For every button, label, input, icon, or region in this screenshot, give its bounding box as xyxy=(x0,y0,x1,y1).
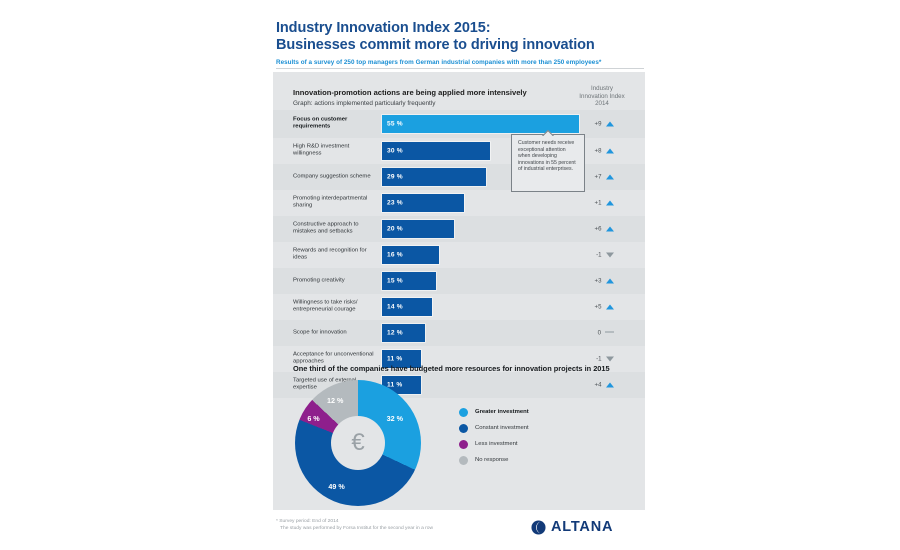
arrow-up-icon xyxy=(606,148,614,153)
donut-slice-label: 32 % xyxy=(387,414,403,423)
bar-row: Willingness to take risks/ entrepreneuri… xyxy=(273,294,645,320)
donut-slice-label: 12 % xyxy=(327,396,343,405)
footnote-line1: * Survey period: End of 2014 xyxy=(276,519,433,526)
footnote-line2: The study was performed by Forsa Institu… xyxy=(276,526,433,533)
bar-track: 55 % xyxy=(382,115,597,133)
index-delta: -1 xyxy=(571,252,633,259)
donut-center-symbol: € xyxy=(331,416,385,470)
bar-row: Focus on customer requirements55 %+9 xyxy=(273,110,645,138)
bar: 16 % xyxy=(382,246,439,264)
bar-chart-subtitle: Graph: actions implemented particularly … xyxy=(293,99,573,108)
bar-value-label: 23 % xyxy=(387,200,403,207)
index-delta-value: 0 xyxy=(590,330,601,337)
legend-color-swatch xyxy=(459,456,468,465)
index-delta-value: +1 xyxy=(591,200,602,207)
bar: 23 % xyxy=(382,194,464,212)
arrow-up-icon xyxy=(606,304,614,309)
bar-value-label: 15 % xyxy=(387,278,403,285)
index-delta-value: -1 xyxy=(591,252,602,259)
bar-value-label: 29 % xyxy=(387,174,403,181)
index-column-header: Industry Innovation Index 2014 xyxy=(571,85,633,108)
legend-item: No response xyxy=(459,452,529,468)
arrow-up-icon xyxy=(606,382,614,387)
bar-row: Promoting interdepartmental sharing23 %+… xyxy=(273,190,645,216)
legend-label: Greater investment xyxy=(475,409,529,415)
legend-item: Less investment xyxy=(459,436,529,452)
bar-chart-header: Innovation-promotion actions are being a… xyxy=(293,88,573,108)
altana-logo: ALTANA xyxy=(531,519,613,535)
header-divider xyxy=(276,68,644,69)
bar-value-label: 30 % xyxy=(387,148,403,155)
content-panel: Innovation-promotion actions are being a… xyxy=(273,72,645,510)
legend-color-swatch xyxy=(459,440,468,449)
index-header-line3: 2014 xyxy=(571,100,633,108)
callout-text: Customer needs receive exceptional atten… xyxy=(512,135,584,173)
altana-logo-text: ALTANA xyxy=(551,519,613,535)
footnote: * Survey period: End of 2014 The study w… xyxy=(276,519,433,532)
index-delta: -1 xyxy=(571,356,633,363)
legend-label: Less investment xyxy=(475,441,518,447)
bar: 15 % xyxy=(382,272,436,290)
arrow-down-icon xyxy=(606,356,614,361)
legend-item: Constant investment xyxy=(459,420,529,436)
bar-value-label: 16 % xyxy=(387,252,403,259)
bar-row: Rewards and recognition for ideas16 %-1 xyxy=(273,242,645,268)
arrow-up-icon xyxy=(606,121,614,126)
index-delta-value: +3 xyxy=(591,278,602,285)
index-delta: +9 xyxy=(571,121,633,128)
bar-row-label: Willingness to take risks/ entrepreneuri… xyxy=(293,300,377,315)
bar-track: 15 % xyxy=(382,272,597,290)
arrow-up-icon xyxy=(606,200,614,205)
legend-label: Constant investment xyxy=(475,425,529,431)
bar-track: 16 % xyxy=(382,246,597,264)
bar-row-label: Constructive approach to mistakes and se… xyxy=(293,222,377,237)
bar-row-label: Rewards and recognition for ideas xyxy=(293,248,377,263)
legend-color-swatch xyxy=(459,424,468,433)
index-delta-value: +9 xyxy=(591,121,602,128)
bar-value-label: 20 % xyxy=(387,226,403,233)
page-title-line2: Businesses commit more to driving innova… xyxy=(276,37,656,54)
bar-track: 14 % xyxy=(382,298,597,316)
bar-value-label: 12 % xyxy=(387,330,403,337)
callout-pointer xyxy=(542,129,555,136)
index-delta-value: +7 xyxy=(591,174,602,181)
index-delta-value: +4 xyxy=(591,382,602,389)
donut-chart-title: One third of the companies have budgeted… xyxy=(293,364,610,373)
donut-slice-label: 49 % xyxy=(328,482,344,491)
index-delta-value: +8 xyxy=(591,148,602,155)
bar-row: Promoting creativity15 %+3 xyxy=(273,268,645,294)
bar-row: Company suggestion scheme29 %+7 xyxy=(273,164,645,190)
index-delta-value: -1 xyxy=(591,356,602,363)
bar-row-label: High R&D investment willingness xyxy=(293,144,377,159)
bar-row: High R&D investment willingness30 %+8 xyxy=(273,138,645,164)
bar-value-label: 55 % xyxy=(387,121,403,128)
legend-item: Greater investment xyxy=(459,404,529,420)
bar-row-label: Focus on customer requirements xyxy=(293,117,377,132)
bar-row: Constructive approach to mistakes and se… xyxy=(273,216,645,242)
arrow-down-icon xyxy=(606,252,614,257)
index-delta-value: +5 xyxy=(591,304,602,311)
index-delta: +5 xyxy=(571,304,633,311)
bar-row-label: Company suggestion scheme xyxy=(293,173,377,180)
arrow-up-icon xyxy=(606,174,614,179)
bar-chart: Focus on customer requirements55 %+9High… xyxy=(273,110,645,398)
index-delta: +6 xyxy=(571,226,633,233)
callout-box: Customer needs receive exceptional atten… xyxy=(511,134,585,192)
index-delta: +4 xyxy=(571,382,633,389)
index-header-line2: Innovation Index xyxy=(571,93,633,101)
legend-label: No response xyxy=(475,457,508,463)
arrow-up-icon xyxy=(606,278,614,283)
infographic-root: Industry Innovation Index 2015: Business… xyxy=(0,0,900,550)
bar-row: Scope for innovation12 %0 xyxy=(273,320,645,346)
bar-value-label: 14 % xyxy=(387,304,403,311)
bar: 12 % xyxy=(382,324,425,342)
page-subtitle: Results of a survey of 250 top managers … xyxy=(276,59,656,67)
index-delta-value: +6 xyxy=(591,226,602,233)
bar: 20 % xyxy=(382,220,454,238)
bar-track: 20 % xyxy=(382,220,597,238)
donut-chart: € 32 %49 %6 %12 % xyxy=(295,380,431,502)
bar-row-label: Promoting interdepartmental sharing xyxy=(293,196,377,211)
page-title-line1: Industry Innovation Index 2015: xyxy=(276,20,656,37)
bar: 29 % xyxy=(382,168,486,186)
bar-track: 23 % xyxy=(382,194,597,212)
index-header-line1: Industry xyxy=(571,85,633,93)
donut-slice-label: 6 % xyxy=(307,414,319,423)
altana-moon-icon xyxy=(531,520,546,535)
bar-row-label: Promoting creativity xyxy=(293,277,377,284)
bar-row-label: Scope for innovation xyxy=(293,329,377,336)
index-delta: +3 xyxy=(571,278,633,285)
arrow-up-icon xyxy=(606,226,614,231)
dash-icon xyxy=(605,331,614,332)
index-delta: +1 xyxy=(571,200,633,207)
legend-color-swatch xyxy=(459,408,468,417)
bar-value-label: 11 % xyxy=(387,356,402,363)
donut-legend: Greater investmentConstant investmentLes… xyxy=(459,404,529,468)
index-delta: 0 xyxy=(571,330,633,337)
bar: 30 % xyxy=(382,142,490,160)
header: Industry Innovation Index 2015: Business… xyxy=(276,20,656,67)
bar-chart-title: Innovation-promotion actions are being a… xyxy=(293,88,573,98)
bar-track: 12 % xyxy=(382,324,597,342)
bar: 14 % xyxy=(382,298,432,316)
